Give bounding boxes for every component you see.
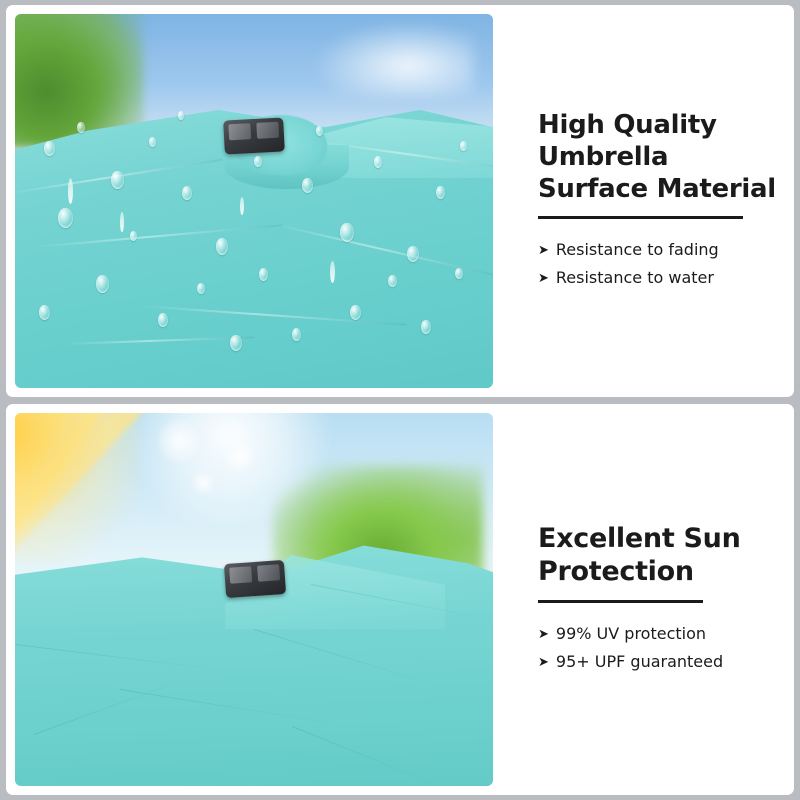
sun-burst [15, 413, 139, 562]
water-droplet [259, 268, 268, 281]
feature-bullet-item: ➤ 99% UV protection [538, 620, 785, 648]
water-droplet [350, 305, 361, 320]
solar-light-box [223, 117, 285, 154]
cloud [311, 21, 474, 96]
water-droplet [460, 141, 467, 151]
water-droplet [216, 238, 228, 255]
arrow-bullet-icon: ➤ [538, 244, 549, 257]
feature-bullet-label: Resistance to water [556, 264, 714, 292]
water-droplet [130, 231, 137, 241]
photo-canvas-2 [15, 413, 493, 787]
feature-text-surface-material: High Quality Umbrella Surface Material ➤… [493, 14, 785, 388]
arrow-bullet-icon: ➤ [538, 656, 549, 669]
product-feature-infographic: High Quality Umbrella Surface Material ➤… [0, 0, 800, 800]
panel-headline: High Quality Umbrella Surface Material [538, 110, 785, 205]
umbrella-sun-photo [15, 413, 493, 787]
headline-underline [538, 600, 703, 603]
water-droplet [455, 268, 463, 279]
water-droplet [436, 186, 445, 199]
water-droplet [374, 156, 382, 168]
feature-bullet-item: ➤ Resistance to fading [538, 236, 785, 264]
water-droplet [407, 246, 419, 262]
feature-bullet-label: 95+ UPF guaranteed [556, 648, 723, 676]
water-droplet [254, 156, 262, 167]
arrow-bullet-icon: ➤ [538, 272, 549, 285]
headline-underline [538, 216, 743, 219]
light-bokeh [192, 472, 214, 494]
photo-canvas-1 [15, 14, 493, 388]
feature-bullet-label: Resistance to fading [556, 236, 719, 264]
feature-bullet-item: ➤ Resistance to water [538, 264, 785, 292]
water-streak [68, 178, 73, 204]
feature-bullet-label: 99% UV protection [556, 620, 706, 648]
feature-bullet-list: ➤ 99% UV protection ➤ 95+ UPF guaranteed [538, 620, 785, 675]
water-droplet [197, 283, 205, 294]
water-droplet [111, 171, 124, 189]
solar-light-box [224, 560, 286, 598]
water-droplet [302, 178, 313, 193]
arrow-bullet-icon: ➤ [538, 628, 549, 641]
umbrella-water-photo [15, 14, 493, 388]
water-droplet [44, 141, 55, 156]
feature-bullet-item: ➤ 95+ UPF guaranteed [538, 648, 785, 676]
water-droplet [292, 328, 301, 341]
feature-panel-sun-protection: Excellent Sun Protection ➤ 99% UV protec… [6, 404, 794, 796]
panel-headline: Excellent Sun Protection [538, 523, 785, 589]
water-droplet [149, 137, 156, 147]
water-streak [240, 197, 244, 215]
water-droplet [178, 111, 184, 120]
feature-text-sun-protection: Excellent Sun Protection ➤ 99% UV protec… [493, 413, 785, 787]
feature-panel-surface-material: High Quality Umbrella Surface Material ➤… [6, 5, 794, 397]
feature-bullet-list: ➤ Resistance to fading ➤ Resistance to w… [538, 236, 785, 291]
